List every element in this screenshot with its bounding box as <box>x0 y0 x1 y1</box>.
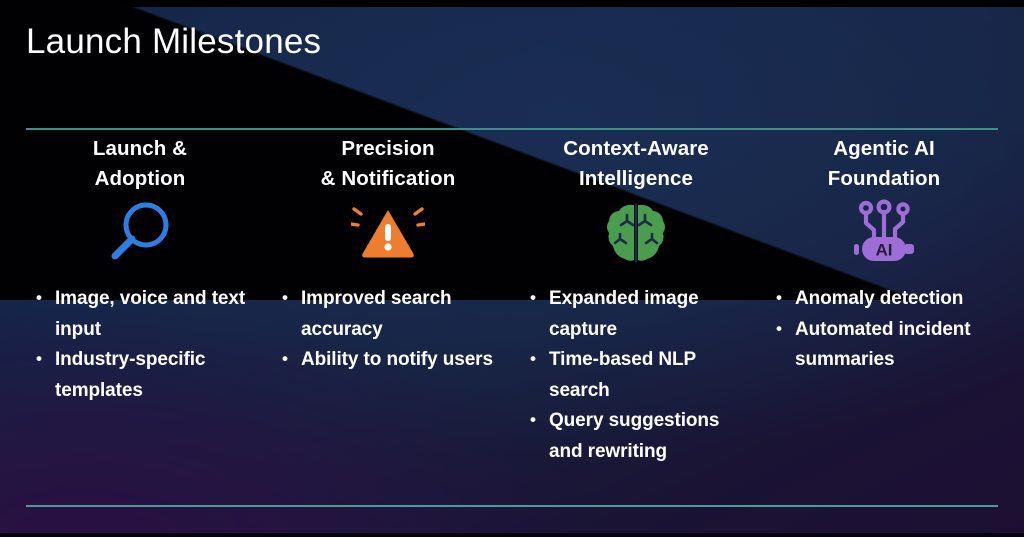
column-icon-wrap: AI <box>764 196 1004 274</box>
column-heading: Precision & Notification <box>268 134 508 194</box>
milestone-column-agentic-ai-foundation: Agentic AI Foundation <box>760 134 1008 467</box>
bullet-list: Expanded image capture Time-based NLP se… <box>516 284 756 467</box>
divider-top <box>26 128 998 130</box>
milestone-column-precision-notification: Precision & Notification <box>264 134 512 467</box>
list-item: Time-based NLP search <box>530 345 754 406</box>
slide-canvas: Launch Milestones Launch & Adoption Imag… <box>0 0 1024 537</box>
list-item: Automated incident summaries <box>776 315 1002 376</box>
magnifying-glass-icon <box>105 200 175 271</box>
column-heading: Context-Aware Intelligence <box>516 134 756 194</box>
brain-icon <box>605 202 667 269</box>
divider-bottom <box>26 505 998 507</box>
column-heading-line-2: & Notification <box>268 164 508 194</box>
column-heading-line-2: Adoption <box>20 164 260 194</box>
column-heading-line-1: Launch & <box>20 134 260 164</box>
column-icon-wrap <box>20 196 260 274</box>
letterbox-top <box>0 0 1024 7</box>
column-icon-wrap <box>268 196 508 274</box>
bullet-list: Anomaly detection Automated incident sum… <box>764 284 1004 376</box>
page-title: Launch Milestones <box>26 22 321 62</box>
column-heading-line-1: Agentic AI <box>764 134 1004 164</box>
milestone-columns: Launch & Adoption Image, voice and text … <box>16 134 1008 467</box>
column-heading-line-1: Precision <box>268 134 508 164</box>
list-item: Anomaly detection <box>776 284 1002 315</box>
milestone-column-context-aware-intelligence: Context-Aware Intelligence <box>512 134 760 467</box>
list-item: Image, voice and text input <box>36 284 258 345</box>
column-icon-wrap <box>516 196 756 274</box>
column-heading-line-2: Foundation <box>764 164 1004 194</box>
ai-chip-icon: AI <box>846 199 922 272</box>
list-item: Improved search accuracy <box>282 284 506 345</box>
warning-alert-icon <box>351 204 425 267</box>
letterbox-bottom <box>0 533 1024 537</box>
list-item: Ability to notify users <box>282 345 506 376</box>
column-heading: Agentic AI Foundation <box>764 134 1004 194</box>
column-heading-line-1: Context-Aware <box>516 134 756 164</box>
column-heading: Launch & Adoption <box>20 134 260 194</box>
list-item: Expanded image capture <box>530 284 754 345</box>
column-heading-line-2: Intelligence <box>516 164 756 194</box>
bullet-list: Improved search accuracy Ability to noti… <box>268 284 508 376</box>
list-item: Industry-specific templates <box>36 345 258 406</box>
list-item: Query suggestions and rewriting <box>530 406 754 467</box>
bullet-list: Image, voice and text input Industry-spe… <box>20 284 260 406</box>
milestone-column-launch-adoption: Launch & Adoption Image, voice and text … <box>16 134 264 467</box>
ai-chip-label: AI <box>876 240 893 259</box>
